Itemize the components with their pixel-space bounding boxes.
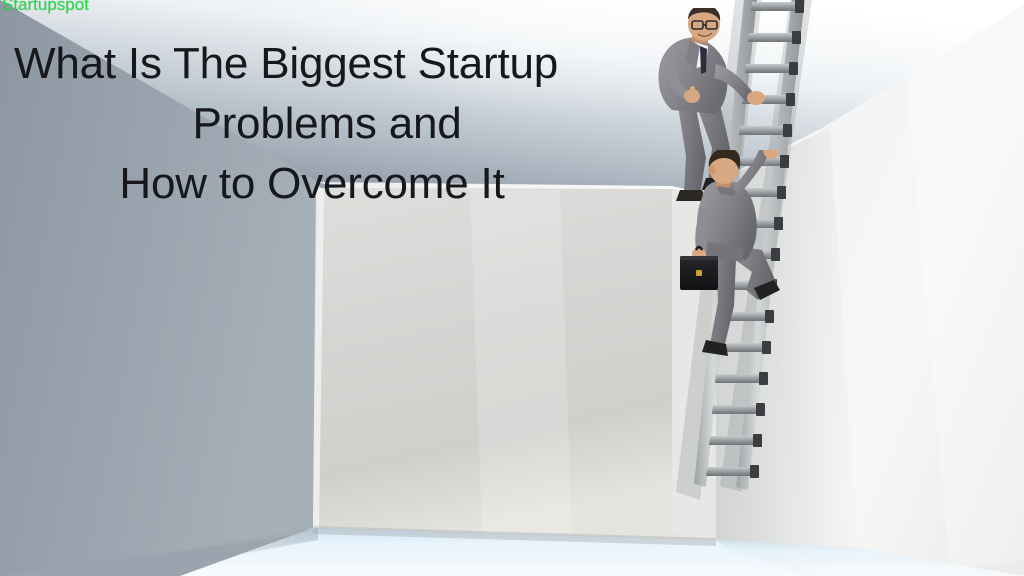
- thumb: [690, 86, 695, 96]
- ear: [708, 165, 716, 175]
- hero-banner: What Is The Biggest Startup Problems and…: [0, 0, 1024, 576]
- necktie: [700, 46, 707, 74]
- center-wall-sheen: [470, 190, 572, 534]
- hand-on-ladder: [747, 91, 765, 105]
- site-logo[interactable]: Startupspot: [2, 0, 89, 13]
- businessman-climbing-ladder: [672, 150, 802, 375]
- scene-background: [0, 0, 1024, 576]
